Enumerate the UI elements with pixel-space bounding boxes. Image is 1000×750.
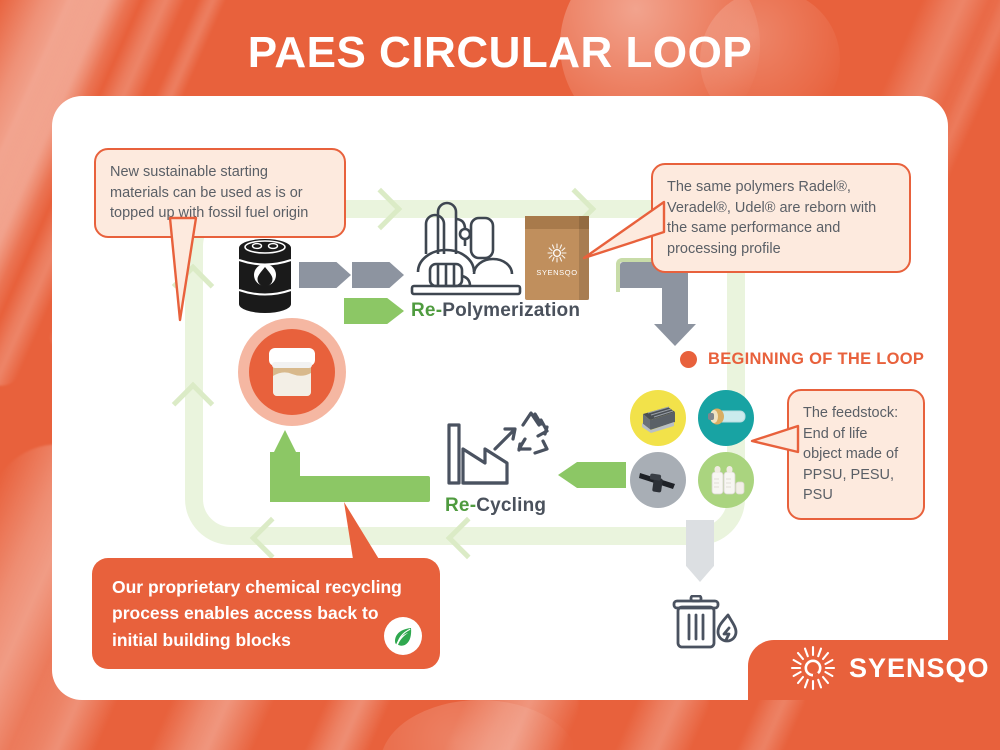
- stage-prefix: Re-: [445, 495, 476, 516]
- waste-bin-flame-icon: [670, 595, 742, 651]
- powder-jar-icon: [263, 342, 321, 402]
- product-led-lamp: [698, 390, 754, 446]
- callout-text: The same polymers Radel®, Veradel®, Udel…: [667, 179, 876, 257]
- stage-prefix: Re-: [411, 300, 442, 321]
- callout-text: The feedstock: End of life object made o…: [803, 405, 898, 503]
- bag-brand-mark-icon: [546, 242, 568, 264]
- callout-starting-materials-tail: [150, 216, 270, 336]
- leaf-icon: [391, 624, 415, 648]
- stage-rest: Cycling: [476, 495, 546, 516]
- chemical-plant-icon: [408, 198, 526, 298]
- led-lamp-icon: [705, 403, 747, 433]
- stage-label-re-polymerization: Re-Polymerization: [411, 300, 580, 322]
- product-baby-bottles: [698, 452, 754, 508]
- leaf-badge: [384, 617, 422, 655]
- loop-start-label: BEGINNING OF THE LOOP: [708, 350, 924, 369]
- callout-same-polymers: The same polymers Radel®, Veradel®, Udel…: [651, 163, 911, 273]
- stage-label-re-cycling: Re-Cycling: [445, 495, 546, 517]
- infographic-canvas: PAES CIRCULAR LOOP: [0, 0, 1000, 750]
- callout-text: New sustainable starting materials can b…: [110, 164, 308, 221]
- product-electronic-housing: [630, 390, 686, 446]
- callout-feedstock-tail: [748, 418, 802, 472]
- syensqo-mark-icon: [790, 645, 836, 691]
- loop-start-dot-icon: [680, 351, 697, 368]
- beginning-of-loop-marker: BEGINNING OF THE LOOP: [680, 350, 924, 369]
- baby-bottle-icon: [706, 463, 746, 497]
- page-title: PAES CIRCULAR LOOP: [0, 28, 1000, 78]
- valve-tool-icon: [637, 465, 679, 495]
- stage-rest: Polymerization: [442, 300, 580, 321]
- brand-logo-text: SYENSQO: [849, 653, 990, 684]
- electronic-connector-icon: [638, 402, 678, 434]
- green-elbow-arrow: [270, 430, 430, 502]
- callout-text: Our proprietary chemical recycling proce…: [112, 577, 402, 650]
- recycling-factory-icon: [437, 405, 555, 490]
- callout-chemical-recycling: Our proprietary chemical recycling proce…: [92, 558, 440, 669]
- brand-logo: SYENSQO: [790, 645, 990, 691]
- gray-elbow-arrow: [620, 262, 716, 358]
- product-plumbing-valve: [630, 452, 686, 508]
- callout-feedstock: The feedstock: End of life object made o…: [787, 389, 925, 520]
- callout-same-polymers-tail: [578, 196, 668, 276]
